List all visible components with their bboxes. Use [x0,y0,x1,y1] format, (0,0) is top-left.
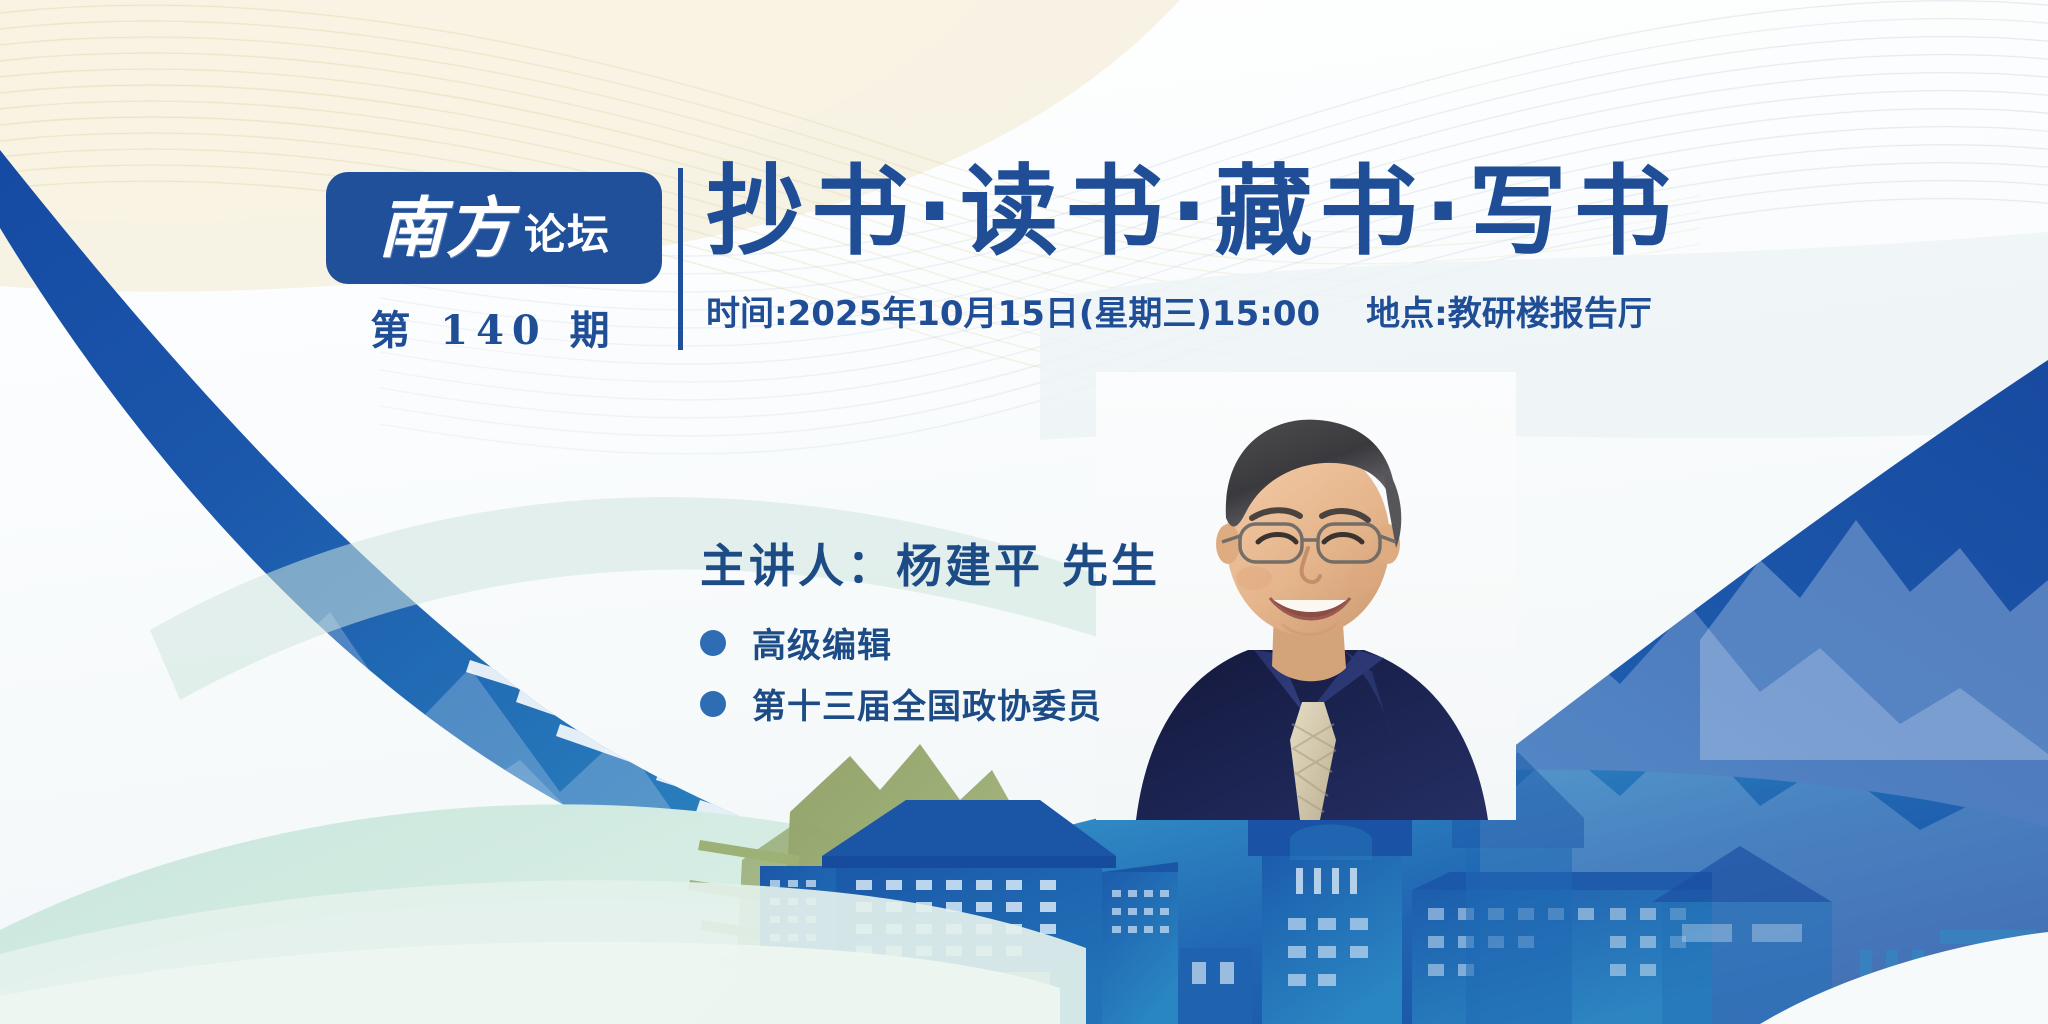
brand-issue-number: 第 140 期 [370,298,617,356]
brand-logo-block: 南方 论坛 第 140 期 [326,172,662,356]
credential-label: 高级编辑 [752,618,892,667]
speaker-credentials-list: 高级编辑 第十三届全国政协委员 [700,618,1160,728]
poster-canvas: 南方 论坛 第 140 期 抄书·读书·藏书·写书 时间:2025年10月15日… [0,0,2048,1024]
page-title: 抄书·读书·藏书·写书 [706,160,1679,266]
brand-name-secondary: 论坛 [524,214,610,256]
bullet-dot-icon [700,691,726,717]
list-item: 第十三届全国政协委员 [700,679,1160,728]
event-meta-line: 时间:2025年10月15日(星期三)15:00地点:教研楼报告厅 [706,286,1679,335]
bullet-dot-icon [700,630,726,656]
event-place: 地点:教研楼报告厅 [1366,294,1652,334]
title-block: 抄书·读书·藏书·写书 时间:2025年10月15日(星期三)15:00地点:教… [706,160,1679,335]
event-time: 时间:2025年10月15日(星期三)15:00 [706,294,1320,334]
speaker-block: 主讲人：杨建平 先生 高级编辑 第十三届全国政协委员 [700,530,1160,740]
brand-name-primary: 南方 [378,195,514,261]
vertical-divider-icon [678,168,683,350]
speaker-name: 主讲人：杨建平 先生 [700,530,1160,596]
brand-badge: 南方 论坛 [326,172,662,284]
list-item: 高级编辑 [700,618,1160,667]
credential-label: 第十三届全国政协委员 [752,679,1102,728]
campus-skyline-artwork [0,0,2048,1024]
